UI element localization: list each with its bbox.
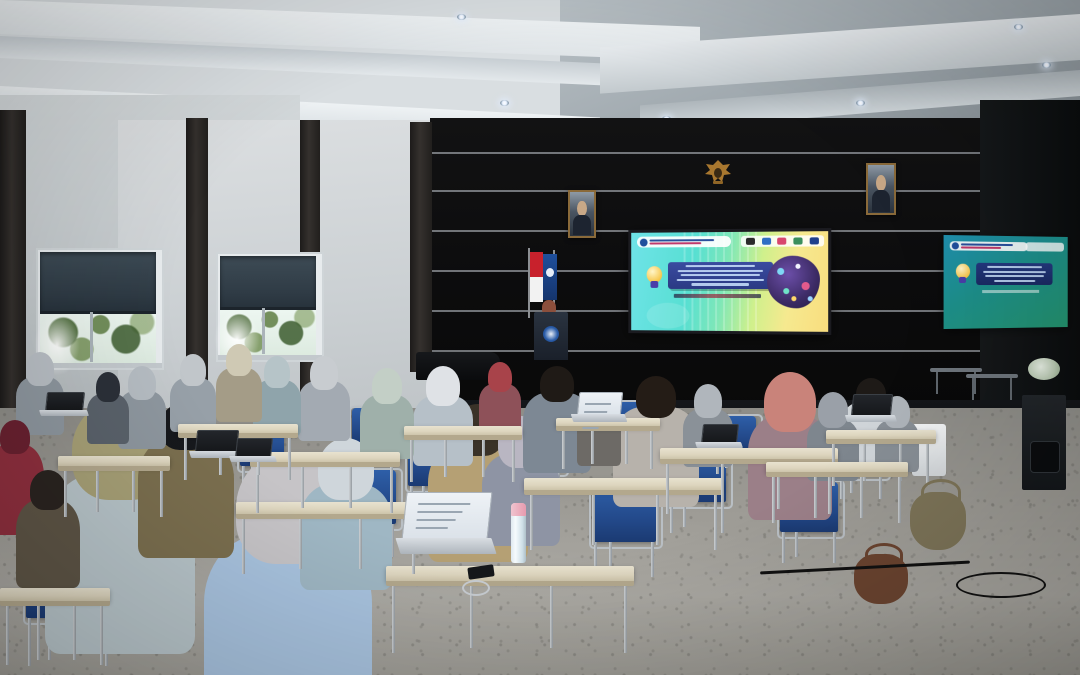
chair-leg bbox=[879, 474, 882, 499]
table-leg bbox=[512, 440, 515, 482]
person-torso bbox=[16, 500, 80, 588]
table-leg bbox=[160, 471, 163, 517]
screen-text-line bbox=[584, 411, 607, 413]
laptop-keyboard bbox=[845, 415, 897, 422]
person-head-covering bbox=[426, 366, 460, 406]
table-leg bbox=[656, 495, 659, 545]
lightbulb-icon bbox=[645, 266, 664, 292]
seminar-room-photo bbox=[0, 0, 1080, 675]
institution-flag-emblem bbox=[546, 268, 554, 277]
lightbulb-icon bbox=[954, 264, 972, 286]
window-blind-hem bbox=[40, 311, 156, 314]
table-edge bbox=[0, 601, 110, 606]
person-head-covering bbox=[0, 420, 30, 454]
standing-banner bbox=[944, 235, 1068, 329]
laptop-screen bbox=[235, 438, 273, 458]
table-leg bbox=[550, 586, 553, 648]
bag-strap bbox=[865, 543, 903, 566]
person-head-covering bbox=[26, 352, 54, 386]
screen-text-line bbox=[417, 511, 462, 513]
laptop-keyboard bbox=[39, 410, 89, 416]
laptop-right[interactable] bbox=[852, 394, 890, 422]
table-leg bbox=[562, 431, 565, 469]
table-leg bbox=[898, 477, 901, 523]
table-leg bbox=[299, 519, 302, 569]
table-leg bbox=[301, 467, 304, 508]
table-leg bbox=[359, 519, 362, 569]
laptop-keyboard bbox=[395, 538, 496, 554]
window-blind bbox=[220, 256, 316, 310]
potted-plant bbox=[1024, 358, 1064, 392]
institution-logo-icon bbox=[952, 242, 959, 249]
table-leg bbox=[132, 471, 135, 512]
person-head-covering bbox=[30, 470, 66, 510]
slide-logo-bar-right bbox=[741, 235, 824, 247]
portrait-image bbox=[570, 192, 594, 236]
table-leg bbox=[714, 495, 717, 550]
backpack-olive bbox=[910, 492, 966, 550]
podium-emblem-icon bbox=[543, 326, 559, 342]
table-leg bbox=[184, 438, 187, 480]
portrait-president bbox=[568, 190, 596, 238]
person-head-covering bbox=[818, 392, 848, 428]
table[interactable] bbox=[660, 448, 838, 460]
laptop-mid-left[interactable] bbox=[236, 438, 270, 462]
portrait-image bbox=[868, 165, 894, 213]
side-table bbox=[966, 374, 1018, 378]
table-edge bbox=[556, 426, 660, 431]
laptop-screen bbox=[401, 492, 492, 540]
presentation-slide bbox=[631, 231, 828, 332]
projection-screen bbox=[628, 228, 831, 335]
table-leg bbox=[390, 467, 393, 513]
table-edge bbox=[58, 466, 170, 471]
ceiling-downlight bbox=[500, 100, 509, 106]
portrait-head bbox=[876, 175, 886, 191]
table-leg bbox=[73, 606, 76, 660]
table-leg bbox=[349, 467, 352, 508]
person-head-covering bbox=[310, 356, 338, 390]
window-blind bbox=[40, 252, 156, 314]
wall-pilaster bbox=[410, 122, 432, 372]
table-leg bbox=[926, 444, 929, 486]
person-head-covering bbox=[226, 344, 252, 376]
laptop-center[interactable] bbox=[578, 392, 620, 422]
indonesia-flag bbox=[530, 252, 543, 302]
window-mullion bbox=[262, 308, 265, 354]
table-leg bbox=[37, 606, 40, 660]
chair-leg bbox=[833, 532, 836, 563]
ceiling-downlight bbox=[1042, 62, 1051, 68]
banner-logo-bar bbox=[950, 241, 1028, 251]
partner-logo-icon bbox=[762, 238, 771, 245]
person-head-covering bbox=[128, 366, 156, 400]
table-edge bbox=[826, 439, 936, 444]
table[interactable] bbox=[766, 462, 908, 473]
laptop-left[interactable] bbox=[196, 430, 236, 458]
table-leg bbox=[6, 606, 9, 665]
table-leg bbox=[624, 586, 627, 653]
screen-text-line bbox=[416, 519, 455, 521]
wall-pilaster bbox=[0, 110, 26, 410]
chair-leg bbox=[795, 532, 798, 557]
laptop-right-two[interactable] bbox=[702, 424, 736, 448]
purple-blob-illustration bbox=[767, 256, 820, 309]
table-leg bbox=[288, 438, 291, 480]
person-head-covering bbox=[488, 362, 512, 392]
table-leg bbox=[650, 431, 653, 469]
window-left bbox=[36, 248, 164, 370]
table-leg bbox=[814, 477, 817, 518]
table[interactable] bbox=[236, 502, 422, 515]
table[interactable] bbox=[826, 430, 936, 440]
partner-logo-icon bbox=[809, 237, 818, 244]
partner-logo-icon bbox=[778, 238, 787, 245]
table-leg bbox=[96, 471, 99, 512]
table-leg bbox=[666, 464, 669, 514]
table[interactable] bbox=[0, 588, 110, 602]
keys-keychain bbox=[462, 580, 490, 596]
table-leg bbox=[591, 431, 594, 464]
person-head-covering bbox=[96, 372, 120, 402]
institution-flag bbox=[543, 254, 557, 300]
screen-text-line bbox=[585, 403, 611, 405]
table-leg bbox=[392, 586, 395, 653]
laptop-screen bbox=[851, 394, 893, 417]
person-head-covering bbox=[372, 368, 402, 404]
laptop-keyboard bbox=[571, 414, 628, 422]
table-edge bbox=[524, 490, 724, 495]
table-edge bbox=[250, 462, 400, 467]
table-leg bbox=[242, 519, 245, 574]
table[interactable] bbox=[58, 456, 170, 467]
banner-subtitle-line bbox=[982, 290, 1039, 293]
speaker-podium bbox=[534, 312, 568, 360]
side-table bbox=[930, 368, 982, 372]
person-head-covering bbox=[764, 372, 816, 432]
table-edge bbox=[404, 435, 522, 440]
banner-title-textbox bbox=[976, 263, 1052, 285]
floor-cable-coil bbox=[956, 572, 1046, 598]
laptop-keyboard bbox=[229, 456, 277, 462]
slide-date-line bbox=[674, 294, 761, 298]
laptop-foreground[interactable] bbox=[404, 492, 488, 554]
table-leg bbox=[721, 464, 724, 509]
table-leg bbox=[100, 606, 103, 665]
partner-logo-icon bbox=[746, 238, 755, 245]
laptop-far-left[interactable] bbox=[46, 392, 82, 416]
table[interactable] bbox=[386, 566, 634, 582]
bag-strap bbox=[921, 479, 961, 505]
partner-logo-icon bbox=[793, 237, 802, 244]
ceiling-downlight bbox=[856, 100, 865, 106]
screen-text-line bbox=[582, 427, 598, 429]
table-leg bbox=[772, 477, 775, 523]
slide-watermark bbox=[647, 303, 690, 329]
person-head-covering bbox=[180, 354, 206, 386]
table-leg bbox=[592, 495, 595, 545]
laptop-keyboard bbox=[695, 442, 743, 448]
table-edge bbox=[236, 514, 422, 519]
chair-leg bbox=[651, 542, 654, 577]
table-edge bbox=[766, 472, 908, 477]
table-leg bbox=[482, 440, 485, 477]
person-head-covering bbox=[264, 356, 290, 388]
chair-leg bbox=[28, 618, 31, 666]
table-leg bbox=[530, 495, 533, 550]
window-blind-hem bbox=[220, 307, 316, 310]
handbag-brown bbox=[854, 554, 908, 604]
laptop-screen bbox=[701, 424, 739, 444]
ceiling-downlight bbox=[457, 14, 466, 20]
portrait-head bbox=[577, 201, 586, 216]
portrait-vice-president bbox=[866, 163, 896, 215]
person-torso bbox=[216, 368, 262, 422]
table-leg bbox=[64, 471, 67, 517]
thermos-bottle bbox=[511, 503, 526, 563]
ceiling-downlight bbox=[1014, 24, 1023, 30]
person-torso bbox=[298, 381, 350, 441]
table-leg bbox=[410, 440, 413, 482]
person-head-covering bbox=[694, 384, 722, 418]
person-head-covering bbox=[636, 376, 676, 418]
banner-partner-logos bbox=[1026, 242, 1064, 251]
portrait-body bbox=[573, 215, 590, 235]
table-leg bbox=[625, 431, 628, 464]
portrait-body bbox=[872, 190, 891, 212]
slide-title-textbox bbox=[668, 262, 773, 289]
table[interactable] bbox=[404, 426, 522, 436]
garuda-pancasila-emblem bbox=[700, 157, 736, 187]
laptop-screen bbox=[195, 430, 239, 453]
slide-logo-bar-left bbox=[637, 236, 731, 248]
table[interactable] bbox=[524, 478, 724, 491]
pa-speaker bbox=[1022, 395, 1066, 490]
table-leg bbox=[444, 440, 447, 477]
window-mullion bbox=[90, 312, 93, 362]
person-head-covering bbox=[540, 366, 574, 402]
table-leg bbox=[860, 477, 863, 518]
institution-logo-icon bbox=[640, 238, 648, 246]
screen-text-line bbox=[416, 527, 448, 529]
table-edge bbox=[386, 581, 634, 586]
laptop-screen bbox=[577, 392, 624, 416]
screen-text-line bbox=[418, 503, 470, 505]
laptop-screen bbox=[45, 392, 85, 412]
chair-leg bbox=[782, 532, 785, 563]
